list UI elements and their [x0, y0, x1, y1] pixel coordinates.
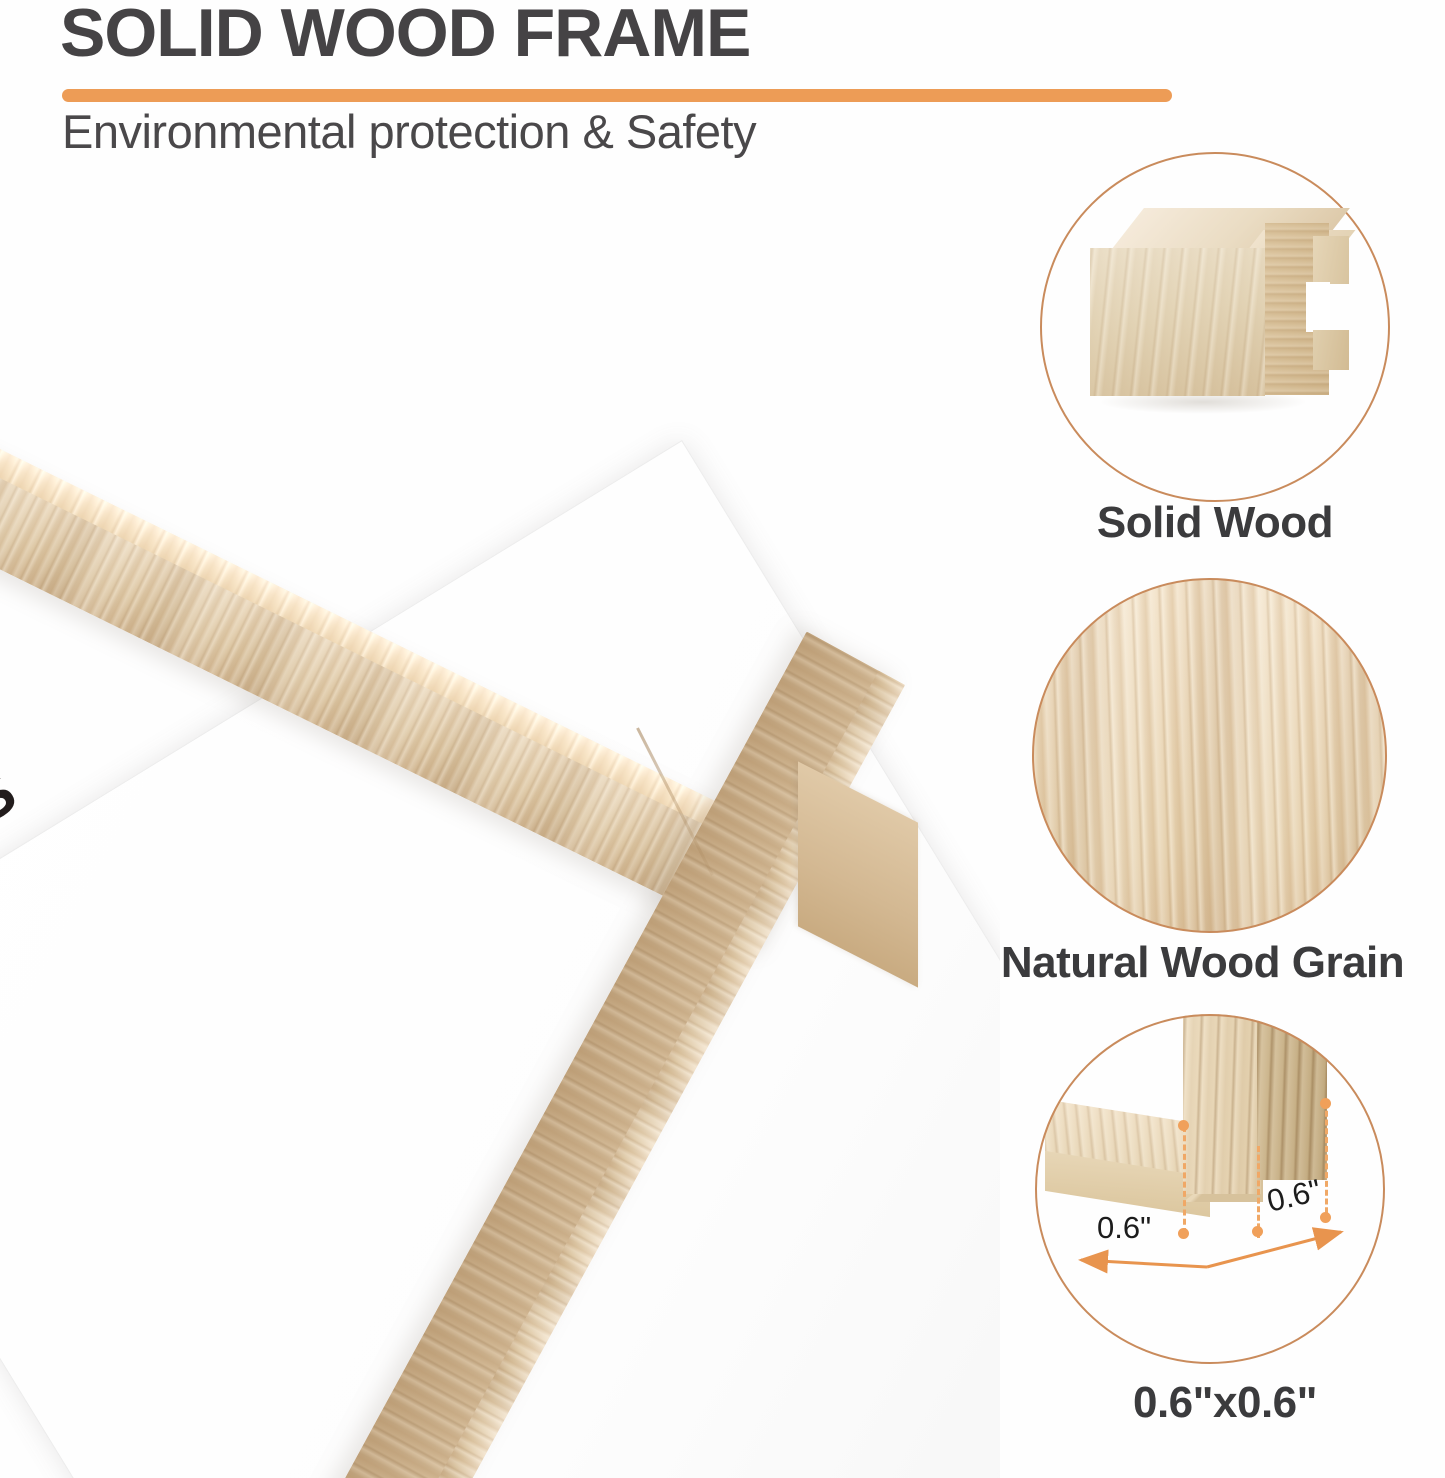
profile-front-face — [1090, 248, 1265, 396]
profile-rabbet-lower — [1313, 330, 1349, 370]
title-underline-rule — [62, 89, 1172, 102]
callout-caption-solid-wood: Solid Wood — [985, 498, 1445, 548]
callout-caption-natural-wood-grain: Natural Wood Grain — [960, 938, 1445, 988]
wood-grain-swatch-icon — [1032, 578, 1387, 933]
product-photo: ES — [0, 140, 1000, 1478]
page-title: SOLID WOOD FRAME — [60, 0, 750, 72]
wood-profile-block-icon — [1090, 208, 1346, 423]
profile-rabbet-notch — [1306, 282, 1330, 332]
callout-circle-outline — [1035, 1014, 1385, 1364]
header-banner: SOLID WOOD FRAME Environmental protectio… — [0, 0, 1180, 160]
callout-caption-dimensions: 0.6"x0.6" — [1060, 1378, 1390, 1428]
profile-rabbet-upper — [1313, 236, 1349, 284]
